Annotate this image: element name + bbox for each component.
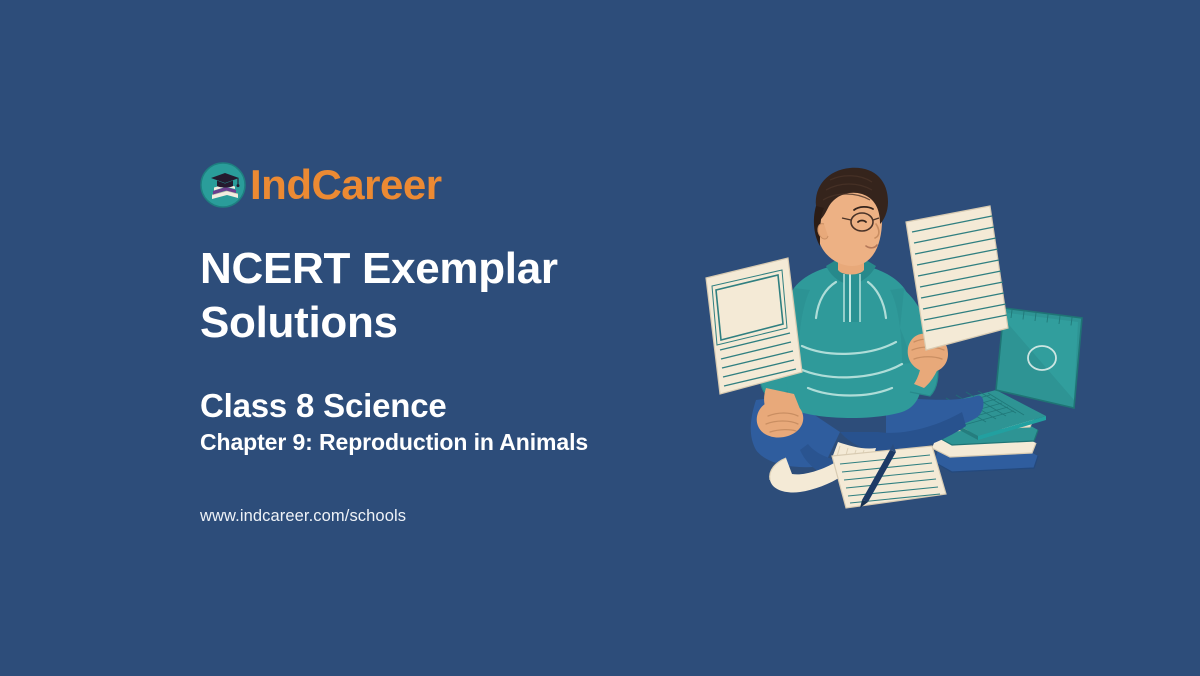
- chapter-title: Chapter 9: Reproduction in Animals: [200, 428, 720, 457]
- brand-name-text: IndCareer: [250, 161, 442, 208]
- brand-logo[interactable]: IndCareer: [200, 158, 720, 212]
- banner-text-column: IndCareer NCERT Exemplar Solutions Class…: [200, 158, 720, 526]
- website-url[interactable]: www.indcareer.com/schools: [200, 507, 720, 526]
- promo-banner: IndCareer NCERT Exemplar Solutions Class…: [0, 0, 1200, 676]
- page-title: NCERT Exemplar Solutions: [200, 242, 630, 349]
- graduation-cap-books-icon: [200, 162, 246, 208]
- paper-left: [706, 258, 802, 394]
- student-reading-papers-illustration: [690, 150, 1110, 520]
- brand-name: IndCareer: [250, 164, 442, 206]
- subject-title: Class 8 Science: [200, 387, 720, 426]
